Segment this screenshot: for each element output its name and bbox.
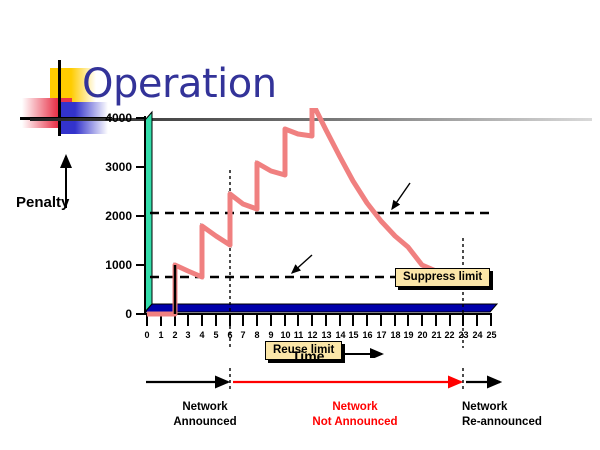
- x-tick-label-25: 25: [483, 330, 500, 340]
- x-tick-label-2: 2: [168, 330, 182, 340]
- phase-label-re-announced: Network Re-announced: [462, 400, 592, 430]
- y-tick-label-1000: 1000: [96, 258, 132, 272]
- x-tick-label-7: 7: [236, 330, 250, 340]
- x-tick-label-9: 9: [264, 330, 278, 340]
- suppress-callout-arrow: [392, 183, 410, 209]
- x-tick-label-6: 6: [223, 330, 237, 340]
- floor-plane: [145, 304, 497, 312]
- phase-label-not-announced: Network Not Announced: [285, 400, 425, 430]
- x-tick-label-5: 5: [209, 330, 223, 340]
- phase-1-line-1: Network: [150, 400, 260, 415]
- y-axis-title: Penalty: [16, 194, 69, 211]
- phase-label-announced: Network Announced: [150, 400, 260, 430]
- slide-canvas: Operation: [0, 0, 600, 450]
- phase-2-line-2: Not Announced: [285, 415, 425, 430]
- y-tick-label-0: 0: [96, 307, 132, 321]
- x-tick-label-4: 4: [195, 330, 209, 340]
- penalty-chart: 4000 3000 2000 1000 0 0 1 2 3 4 5 6 7 8 …: [0, 108, 600, 358]
- x-axis-title: Time: [292, 348, 324, 364]
- x-tick-label-0: 0: [140, 330, 154, 340]
- phase-timeline: [0, 368, 600, 398]
- x-tick-label-1: 1: [154, 330, 168, 340]
- x-tick-marks: [147, 314, 491, 326]
- y-tick-label-3000: 3000: [96, 160, 132, 174]
- phase-1-line-2: Announced: [150, 415, 260, 430]
- chart-plot-area: [0, 108, 600, 358]
- phase-2-line-1: Network: [285, 400, 425, 415]
- x-tick-label-3: 3: [181, 330, 195, 340]
- phase-3-line-2: Re-announced: [462, 415, 592, 430]
- reuse-callout-arrow: [292, 255, 312, 273]
- x-tick-label-8: 8: [250, 330, 264, 340]
- suppress-limit-callout: Suppress limit: [395, 268, 490, 287]
- phase-3-line-1: Network: [462, 400, 592, 415]
- y-tick-label-4000: 4000: [96, 111, 132, 125]
- page-title: Operation: [82, 56, 277, 112]
- y-tick-label-2000: 2000: [96, 209, 132, 223]
